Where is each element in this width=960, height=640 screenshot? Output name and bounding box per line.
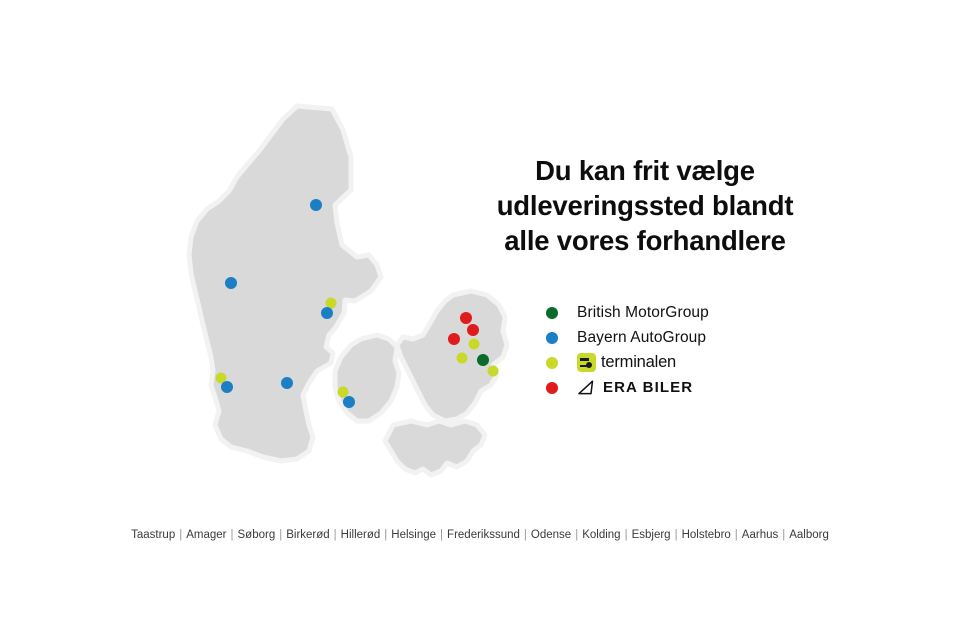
city-item: Aalborg [785, 529, 833, 541]
map-marker-helsinge-red[interactable] [460, 312, 472, 324]
map-marker-hillerod-red[interactable] [467, 324, 479, 336]
city-item: Aarhus [738, 529, 782, 541]
map-marker-kolding-blue[interactable] [281, 377, 293, 389]
zealand-landmass [397, 291, 507, 421]
southern-islands-landmass [385, 421, 485, 475]
legend-item-bayern-autogroup[interactable]: Bayern AutoGroup [546, 325, 806, 350]
city-item: Hillerød [337, 529, 385, 541]
legend-dot-red [546, 382, 558, 394]
city-item: Taastrup [127, 529, 179, 541]
legend-dot-green [546, 307, 558, 319]
map-marker-aarhus-blue[interactable] [321, 307, 333, 319]
terminalen-lockup: terminalen [577, 353, 676, 372]
legend-item-terminalen[interactable]: terminalen [546, 350, 806, 375]
map-marker-aarhus-yellow[interactable] [326, 298, 337, 309]
terminalen-logo-icon [577, 353, 596, 372]
headline-line-1: Du kan frit vælge [460, 153, 830, 188]
map-marker-odense-yellow[interactable] [338, 387, 349, 398]
city-item: Birkerød [282, 529, 333, 541]
funen-landmass [335, 335, 399, 421]
map-marker-holstebro[interactable] [225, 277, 237, 289]
city-item: Odense [527, 529, 575, 541]
map-marker-amager-green[interactable] [477, 354, 489, 366]
city-item: Frederikssund [443, 529, 524, 541]
era-biler-lockup: ERA BILER [577, 379, 693, 396]
city-item: Holstebro [678, 529, 735, 541]
page-title: Du kan frit vælge udleveringssted blandt… [460, 153, 830, 258]
dealer-legend: British MotorGroup Bayern AutoGroup term… [546, 300, 806, 400]
city-item: Søborg [234, 529, 280, 541]
city-item: Helsinge [387, 529, 440, 541]
headline-line-2: udleveringssted blandt [460, 188, 830, 223]
map-marker-aalborg[interactable] [310, 199, 322, 211]
map-marker-odense-blue[interactable] [343, 396, 355, 408]
legend-label-terminalen: terminalen [601, 353, 676, 372]
legend-label-british-motorgroup: British MotorGroup [577, 304, 709, 322]
city-item: Esbjerg [628, 529, 675, 541]
map-marker-soborg-yellow[interactable] [457, 353, 468, 364]
map-marker-frederikssund-red[interactable] [448, 333, 460, 345]
infographic-canvas: Du kan frit vælge udleveringssted blandt… [0, 0, 960, 640]
headline-line-3: alle vores forhandlere [460, 223, 830, 258]
city-item: Amager [182, 529, 230, 541]
legend-dot-yellow [546, 357, 558, 369]
legend-dot-blue [546, 332, 558, 344]
legend-item-era-biler[interactable]: ERA BILER [546, 375, 806, 400]
legend-item-british-motorgroup[interactable]: British MotorGroup [546, 300, 806, 325]
city-item: Kolding [578, 529, 624, 541]
map-marker-esbjerg-blue[interactable] [221, 381, 233, 393]
legend-label-era-biler: ERA BILER [603, 379, 693, 396]
city-list: Taastrup|Amager|Søborg|Birkerød|Hillerød… [0, 529, 960, 541]
map-marker-taastrup-yellow[interactable] [488, 366, 499, 377]
legend-label-bayern-autogroup: Bayern AutoGroup [577, 329, 706, 347]
era-biler-triangle-icon [577, 380, 597, 396]
map-marker-birkerod-yellow[interactable] [469, 339, 480, 350]
